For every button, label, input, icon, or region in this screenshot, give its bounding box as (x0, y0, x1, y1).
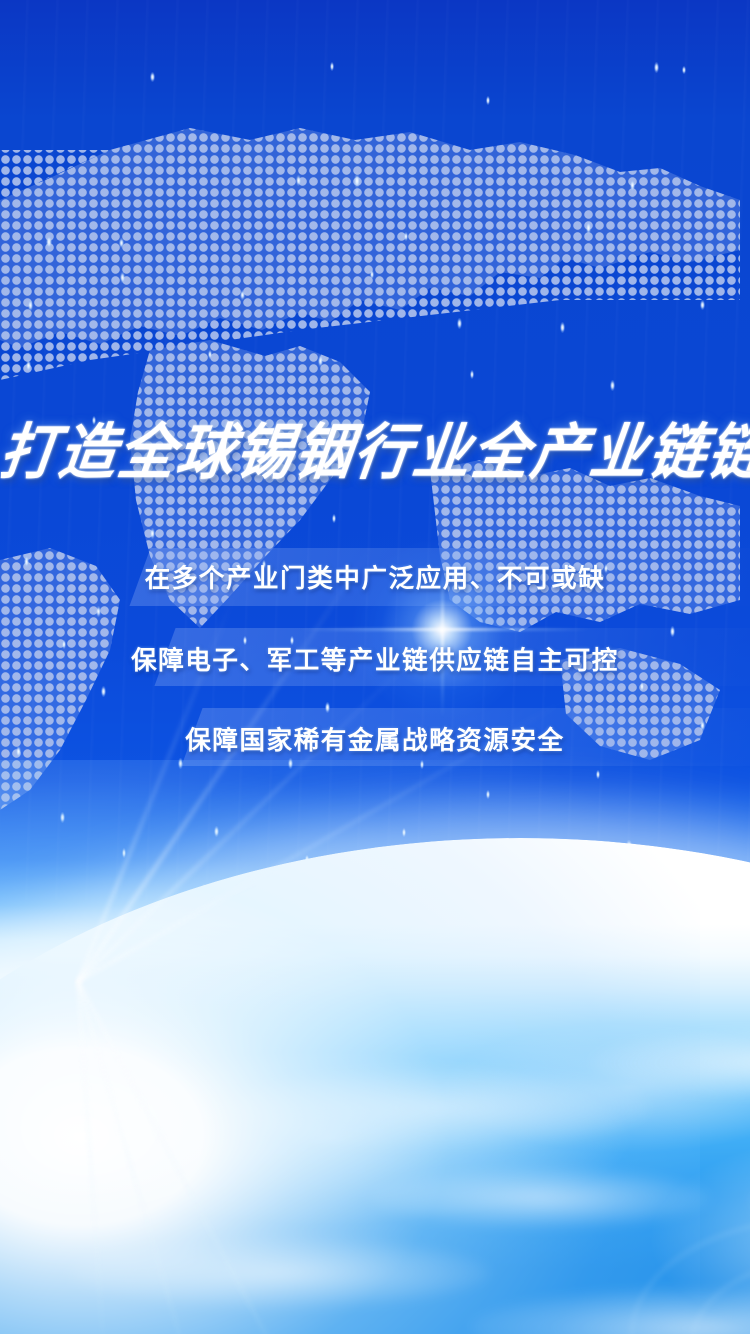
subtitle-line-2: 保障电子、军工等产业链供应链自主可控 (0, 644, 750, 678)
page-title: 打造全球锡铟行业全产业链链主 (0, 416, 750, 492)
subtitle-line-3: 保障国家稀有金属战略资源安全 (0, 724, 750, 758)
poster-canvas: 打造全球锡铟行业全产业链链主 在多个产业门类中广泛应用、不可或缺 保障电子、军工… (0, 0, 750, 1334)
subtitle-line-1: 在多个产业门类中广泛应用、不可或缺 (0, 562, 750, 596)
